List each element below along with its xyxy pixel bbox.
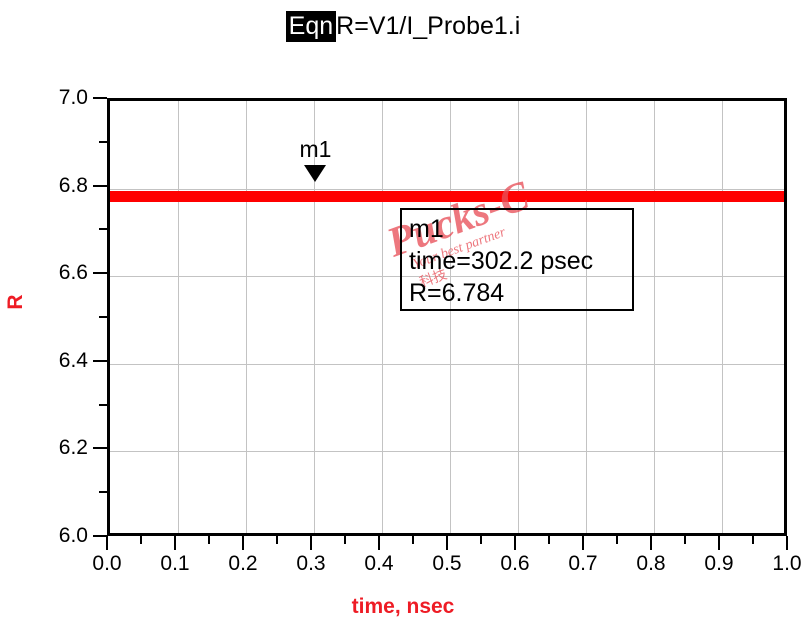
x-tick-minor [616, 536, 618, 544]
marker-readout-line-value: R=6.784 [409, 277, 632, 309]
gridline-horizontal [110, 451, 784, 452]
y-tick-label: 6.6 [28, 261, 88, 285]
marker-m1[interactable]: m1 [300, 138, 332, 182]
x-tick-minor [344, 536, 346, 544]
y-tick-major [93, 185, 107, 187]
eqn-badge: Eqn [286, 11, 336, 42]
x-tick-major [106, 536, 108, 550]
y-tick-minor [99, 228, 107, 230]
x-tick-major [378, 536, 380, 550]
marker-readout-line-time: time=302.2 psec [409, 245, 632, 277]
x-tick-label: 1.0 [772, 552, 801, 576]
x-tick-label: 0.3 [296, 552, 325, 576]
y-tick-minor [99, 404, 107, 406]
y-tick-major [93, 97, 107, 99]
x-tick-major [786, 536, 788, 550]
y-tick-major [93, 272, 107, 274]
x-tick-label: 0.5 [432, 552, 461, 576]
gridline-vertical [586, 101, 587, 533]
y-axis-title: R [4, 272, 28, 332]
y-tick-major [93, 447, 107, 449]
x-tick-label: 0.7 [568, 552, 597, 576]
chart-title: EqnR=V1/I_Probe1.i [0, 12, 806, 41]
x-tick-major [446, 536, 448, 550]
y-tick-minor [99, 316, 107, 318]
y-tick-major [93, 535, 107, 537]
x-tick-label: 0.2 [228, 552, 257, 576]
x-tick-major [514, 536, 516, 550]
x-tick-label: 0.8 [636, 552, 665, 576]
marker-readout-line-name: m1 [409, 213, 632, 245]
marker-m1-arrow-icon [304, 165, 326, 182]
x-tick-major [650, 536, 652, 550]
eqn-expression: R=V1/I_Probe1.i [336, 12, 520, 40]
y-tick-label: 6.8 [28, 174, 88, 198]
marker-readout-box[interactable]: m1 time=302.2 psec R=6.784 [400, 208, 634, 311]
x-tick-label: 0.0 [92, 552, 121, 576]
gridline-horizontal [110, 189, 784, 190]
x-tick-label: 0.9 [704, 552, 733, 576]
x-tick-minor [140, 536, 142, 544]
y-tick-minor [99, 491, 107, 493]
x-tick-major [174, 536, 176, 550]
x-tick-label: 0.1 [160, 552, 189, 576]
gridline-vertical [722, 101, 723, 533]
x-tick-minor [208, 536, 210, 544]
plot-area[interactable]: m1 [107, 98, 787, 536]
marker-m1-label: m1 [300, 138, 332, 161]
x-axis-title: time, nsec [0, 595, 806, 619]
y-tick-minor [99, 141, 107, 143]
gridline-vertical [246, 101, 247, 533]
x-tick-minor [752, 536, 754, 544]
y-tick-label: 7.0 [28, 86, 88, 110]
y-tick-label: 6.0 [28, 524, 88, 548]
x-tick-minor [480, 536, 482, 544]
gridline-vertical [178, 101, 179, 533]
data-trace-r [110, 191, 784, 202]
y-tick-major [93, 360, 107, 362]
x-tick-minor [684, 536, 686, 544]
x-tick-major [582, 536, 584, 550]
gridline-vertical [654, 101, 655, 533]
x-tick-major [718, 536, 720, 550]
y-tick-label: 6.4 [28, 349, 88, 373]
x-tick-major [242, 536, 244, 550]
gridline-vertical [518, 101, 519, 533]
x-tick-minor [548, 536, 550, 544]
x-tick-major [310, 536, 312, 550]
gridline-vertical [382, 101, 383, 533]
x-tick-label: 0.4 [364, 552, 393, 576]
x-tick-minor [276, 536, 278, 544]
x-tick-label: 0.6 [500, 552, 529, 576]
gridline-horizontal [110, 364, 784, 365]
gridline-vertical [450, 101, 451, 533]
y-tick-label: 6.2 [28, 436, 88, 460]
x-tick-minor [412, 536, 414, 544]
